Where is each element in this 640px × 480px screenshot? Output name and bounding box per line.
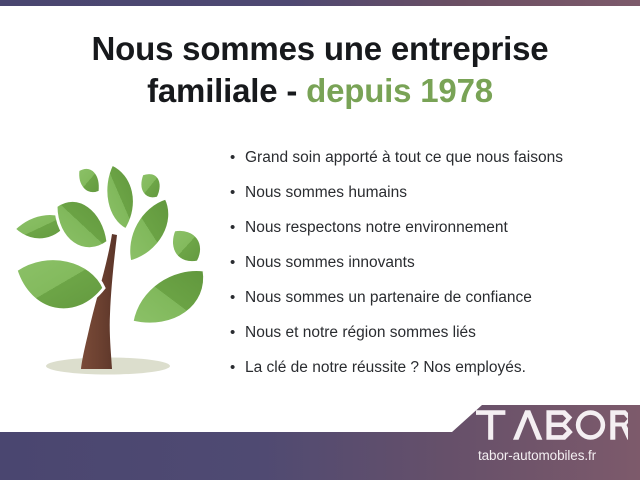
list-item-label: Nous respectons notre environnement — [245, 220, 508, 236]
bullet-marker-icon: • — [230, 185, 245, 200]
list-item-label: Nous et notre région sommes liés — [245, 325, 476, 341]
bullet-marker-icon: • — [230, 150, 245, 165]
bullet-marker-icon: • — [230, 360, 245, 375]
list-item: • La clé de notre réussite ? Nos employé… — [230, 360, 630, 395]
list-item-label: La clé de notre réussite ? Nos employés. — [245, 360, 526, 376]
list-item-label: Nous sommes un partenaire de confiance — [245, 290, 532, 306]
list-item: • Nous sommes un partenaire de confiance — [230, 290, 630, 325]
headline-line-2-plain: familiale - — [147, 72, 297, 109]
list-item: • Nous respectons notre environnement — [230, 220, 630, 255]
bullet-marker-icon: • — [230, 255, 245, 270]
headline-line-1: Nous sommes une entreprise — [92, 30, 549, 67]
headline-accent-since-1978: depuis 1978 — [306, 72, 493, 109]
benefits-list: • Grand soin apporté à tout ce que nous … — [230, 150, 630, 395]
tree-illustration — [8, 148, 223, 393]
list-item-label: Nous sommes innovants — [245, 255, 415, 271]
list-item: • Nous sommes innovants — [230, 255, 630, 290]
list-item-label: Nous sommes humains — [245, 185, 407, 201]
bullet-marker-icon: • — [230, 325, 245, 340]
bullet-marker-icon: • — [230, 220, 245, 235]
tabor-wordmark — [476, 410, 628, 440]
list-item: • Grand soin apporté à tout ce que nous … — [230, 150, 630, 185]
slide-canvas: Nous sommes une entreprise familiale -de… — [0, 0, 640, 480]
brand-logo[interactable]: tabor-automobiles.fr — [476, 410, 636, 463]
top-accent-bar — [0, 0, 640, 6]
list-item: • Nous et notre région sommes liés — [230, 325, 630, 360]
page-title: Nous sommes une entreprise familiale -de… — [0, 28, 640, 112]
bullet-marker-icon: • — [230, 290, 245, 305]
headline-line-2: familiale -depuis 1978 — [0, 70, 640, 112]
list-item: • Nous sommes humains — [230, 185, 630, 220]
brand-tagline: tabor-automobiles.fr — [476, 448, 636, 463]
list-item-label: Grand soin apporté à tout ce que nous fa… — [245, 150, 563, 166]
